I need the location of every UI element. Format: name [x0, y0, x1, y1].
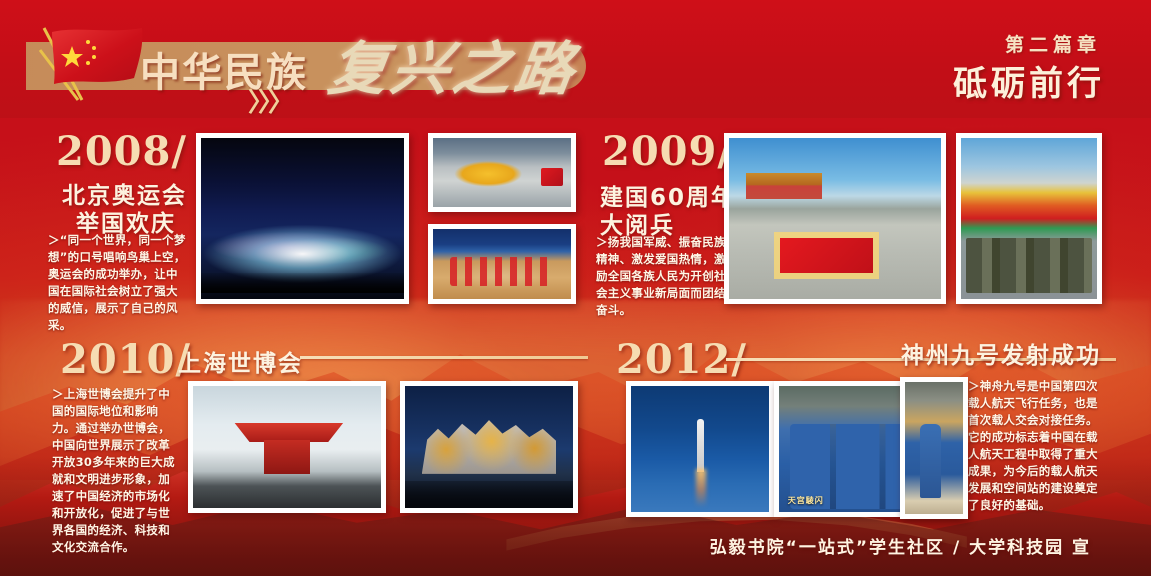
footer-credit: 弘毅书院“一站式”学生社区 / 大学科技园 宣 — [710, 533, 1091, 558]
photo-image — [193, 386, 381, 508]
body-text-2012: ＞神舟九号是中国第四次载人航天飞行任务，也是首次载人交会对接任务。它的成功标志着… — [968, 378, 1104, 514]
year-label-2009: 2009/ — [602, 128, 733, 175]
photo-image — [405, 386, 573, 508]
year-label-2008: 2008/ — [56, 128, 187, 175]
divider-2010 — [300, 356, 588, 359]
chevron-right-icon: 〉〉〉 — [248, 82, 291, 119]
poster-root: 中华民族 〉〉〉 复兴之路 第二篇章 砥砺前行 2008/ 北京奥运会 举国欢庆… — [0, 0, 1151, 576]
russia-pavilion-photo[interactable] — [400, 381, 578, 513]
body-text-2009: ＞扬我国军威、振奋民族精神、激发爱国热情，激励全国各族人民为开创社会主义事业新局… — [596, 234, 726, 319]
photo-image — [201, 138, 404, 299]
year-label-2010: 2010/ — [60, 336, 191, 383]
photo-image — [729, 138, 941, 299]
header-banner: 中华民族 〉〉〉 复兴之路 第二篇章 砥砺前行 — [0, 0, 1151, 118]
chapter-number: 第二篇章 — [1005, 30, 1101, 57]
photo-image — [433, 138, 571, 207]
body-text-2008: ＞“同一个世界，同一个梦想”的口号唱响鸟巢上空，奥运会的成功举办，让中国在国际社… — [48, 232, 188, 334]
photo-image — [905, 382, 963, 514]
photo-image — [631, 386, 769, 512]
body-text-2010: ＞上海世博会提升了中国的国际地位和影响力。通过举办世博会，中国向世界展示了改革开… — [52, 386, 180, 556]
china-pavilion-photo[interactable] — [188, 381, 386, 513]
olympic-athletes-parade-photo[interactable] — [428, 133, 576, 212]
chinese-volleyball-team-photo[interactable] — [428, 224, 576, 304]
heading-2010-inline: 上海世博会 — [178, 344, 303, 378]
poster-title-script: 复兴之路 — [324, 22, 584, 106]
photo-caption-tiangong: 天宫䮚闪 — [788, 495, 824, 506]
chapter-title: 砥砺前行 — [953, 56, 1105, 105]
olympic-opening-ceremony-photo[interactable] — [196, 133, 409, 304]
astronaut-in-module-photo[interactable] — [900, 377, 968, 519]
photo-image — [433, 229, 571, 299]
heading-2012-right: 神州九号发射成功 — [901, 336, 1101, 370]
shenzhou-rocket-launch-photo[interactable] — [626, 381, 774, 517]
photo-image — [961, 138, 1097, 299]
military-vehicles-parade-photo[interactable] — [956, 133, 1102, 304]
tiananmen-square-parade-photo[interactable] — [724, 133, 946, 304]
